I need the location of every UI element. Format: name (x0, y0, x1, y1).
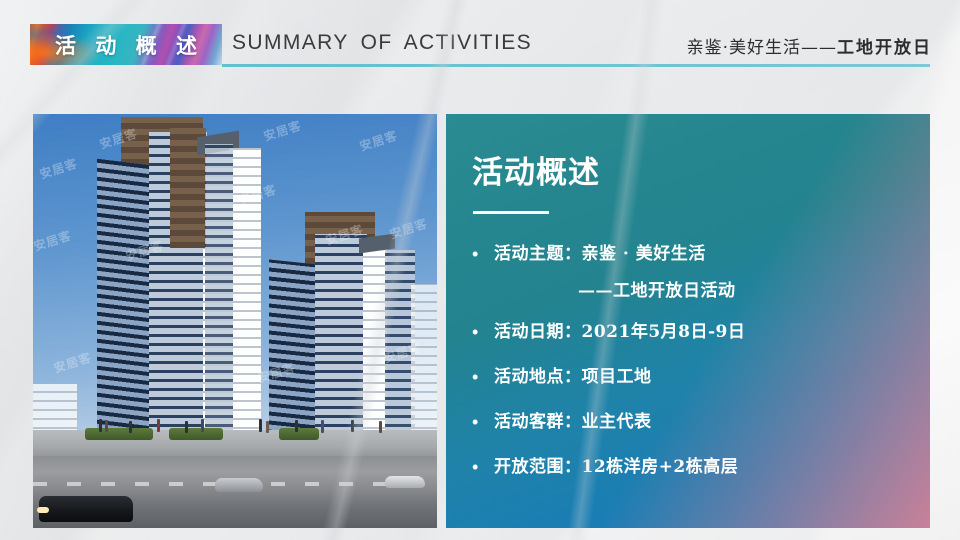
pedestrian (295, 420, 298, 432)
car-background (385, 476, 425, 488)
panel-title: 活动概述 (472, 147, 600, 192)
planting-strip (85, 428, 153, 440)
pedestrian (201, 419, 204, 432)
pedestrian (259, 419, 262, 432)
header-slogan: 亲鉴·美好生活——工地开放日 (687, 33, 932, 58)
pedestrian (321, 420, 324, 433)
car-headlight (37, 507, 49, 513)
section-title-english: SUMMARY OF ACTIVITIES (232, 31, 532, 55)
slide-header: 活 动 概 述 SUMMARY OF ACTIVITIES 亲鉴·美好生活——工… (0, 0, 960, 80)
pedestrian (351, 420, 354, 432)
header-divider-rule (222, 64, 930, 67)
car-foreground (39, 496, 133, 522)
car-midground (215, 478, 263, 492)
pedestrian (266, 421, 269, 433)
bullet-dot-icon: • (468, 410, 494, 434)
list-item: • 开放范围：12栋洋房+2栋高层 (468, 455, 918, 479)
list-item-continuation: • ——工地开放日活动 (468, 279, 918, 303)
activity-summary-panel: 活动概述 • 活动主题：亲鉴 · 美好生活 • ——工地开放日活动 • 活动日期… (446, 114, 930, 528)
section-title-label: 活 动 概 述 (49, 30, 203, 60)
planting-strip (169, 428, 223, 440)
list-item-label: 开放范围：12栋洋房+2栋高层 (494, 455, 738, 479)
bullet-dot-icon: • (468, 320, 494, 344)
pedestrian (379, 421, 382, 433)
pedestrian (185, 421, 188, 433)
bullet-dot-icon: • (468, 455, 494, 479)
list-item-label: 活动客群：业主代表 (494, 410, 652, 434)
pedestrian (105, 420, 108, 432)
header-slogan-normal: 亲鉴·美好生活—— (687, 38, 837, 58)
bullet-dot-icon: • (468, 242, 494, 266)
list-item: • 活动主题：亲鉴 · 美好生活 (468, 242, 918, 266)
section-title-badge: 活 动 概 述 (30, 24, 222, 65)
list-item: • 活动客群：业主代表 (468, 410, 918, 434)
list-item-label: 活动主题：亲鉴 · 美好生活 (494, 242, 706, 266)
pedestrian (129, 421, 132, 433)
header-slogan-bold: 工地开放日 (837, 38, 932, 58)
list-item: • 活动地点：项目工地 (468, 365, 918, 389)
pedestrian (99, 419, 102, 432)
panel-title-divider (473, 211, 549, 214)
list-item-label: ——工地开放日活动 (494, 279, 736, 303)
slide-canvas: 活 动 概 述 SUMMARY OF ACTIVITIES 亲鉴·美好生活——工… (0, 0, 960, 540)
list-item-label: 活动地点：项目工地 (494, 365, 652, 389)
pedestrian (157, 419, 160, 432)
activity-detail-list: • 活动主题：亲鉴 · 美好生活 • ——工地开放日活动 • 活动日期：2021… (468, 242, 918, 500)
planting-strip (279, 428, 319, 440)
list-item: • 活动日期：2021年5月8日-9日 (468, 320, 918, 344)
project-rendering-image: 安居客 安居客 安居客 安居客 安居客 安居客 安居客 安居客 安居客 安居客 … (33, 114, 437, 528)
list-item-label: 活动日期：2021年5月8日-9日 (494, 320, 745, 344)
bullet-dot-icon: • (468, 365, 494, 389)
